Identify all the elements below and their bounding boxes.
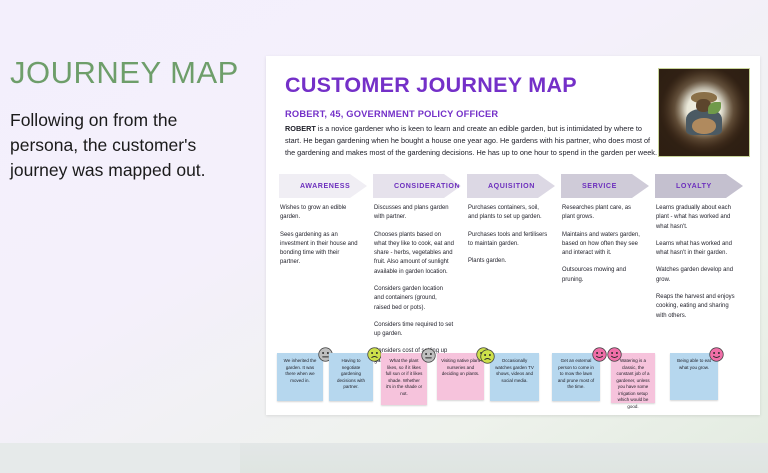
column-bullet: Considers time required to set up garden… [374,321,454,340]
smiley-face-icon [592,347,607,362]
persona-photo-figure [684,92,724,136]
smiley-face-icon [607,347,622,362]
persona-heading: ROBERT, 45, GOVERNMENT POLICY OFFICER [285,109,498,119]
persona-body-text: is a novice gardener who is keen to lear… [285,124,657,157]
stage-arrow-service[interactable]: SERVICE [561,174,649,198]
worried-face-icon [480,349,495,364]
stage-arrow-awareness[interactable]: AWARENESS [279,174,367,198]
column-bullet: Purchases tools and fertilisers to maint… [468,231,548,250]
column-bullet: Reaps the harvest and enjoys cooking, ea… [656,293,736,321]
quote-notes-row: We inherited the garden. It was there wh… [277,347,751,409]
bottom-left-margin [0,443,240,473]
persona-photo [658,68,750,157]
column-bullet: Maintains and waters garden, based on ho… [562,231,642,259]
stage-arrow-consideration[interactable]: CONSIDERATION [373,174,461,198]
stage-arrow-label: AQUISITION [467,182,535,190]
column-bullet: Purchases containers, soil, and plants t… [468,204,548,223]
column-bullet: Chooses plants based on what they like t… [374,231,454,277]
persona-name: ROBERT [285,124,316,133]
column-bullet: Sees gardening as an investment in their… [280,231,360,268]
stage-column-aquisition: Purchases containers, soil, and plants t… [468,204,548,274]
column-bullet: Plants garden. [468,257,548,266]
column-bullet: Learns gradually about each plant - what… [656,204,736,232]
card-title: CUSTOMER JOURNEY MAP [285,73,577,98]
slide-canvas: JOURNEY MAP Following on from the person… [0,0,768,473]
left-intro-panel: JOURNEY MAP Following on from the person… [10,56,258,183]
stage-arrow-label: CONSIDERATION [373,182,460,190]
stage-arrow-label: AWARENESS [279,182,350,190]
stage-arrow-label: SERVICE [561,182,617,190]
column-bullet: Considers garden location and containers… [374,285,454,313]
column-bullet: Discusses and plans garden with partner. [374,204,454,223]
worried-face-icon [367,347,382,362]
journey-map-card: CUSTOMER JOURNEY MAP ROBERT, 45, GOVERNM… [266,56,760,415]
stage-arrow-label: LOYALTY [655,182,712,190]
stage-arrow-bar: AWARENESSCONSIDERATIONAQUISITIONSERVICEL… [279,174,749,198]
stage-arrow-loyalty[interactable]: LOYALTY [655,174,743,198]
stage-arrow-aquisition[interactable]: AQUISITION [467,174,555,198]
persona-description: ROBERT is a novice gardener who is keen … [285,123,660,158]
quote-note[interactable]: Occasionally watches garden TV shows, vi… [490,353,539,401]
stage-column-loyalty: Learns gradually about each plant - what… [656,204,736,329]
column-bullet: Wishes to grow an edible garden. [280,204,360,223]
stage-column-awareness: Wishes to grow an edible garden.Sees gar… [280,204,360,276]
quote-note[interactable]: We inherited the garden. It was there wh… [277,353,323,401]
photo-hands-shape [692,118,716,134]
page-title: JOURNEY MAP [10,56,258,90]
column-bullet: Researches plant care, as plant grows. [562,204,642,223]
smiley-face-icon [709,347,724,362]
column-bullet: Outsources mowing and pruning. [562,266,642,285]
page-subtitle: Following on from the persona, the custo… [10,108,225,183]
column-bullet: Watches garden develop and grow. [656,266,736,285]
column-bullet: Learns what has worked and what hasn't i… [656,240,736,259]
neutral-face-icon [421,348,436,363]
stage-column-service: Researches plant care, as plant grows.Ma… [562,204,642,293]
